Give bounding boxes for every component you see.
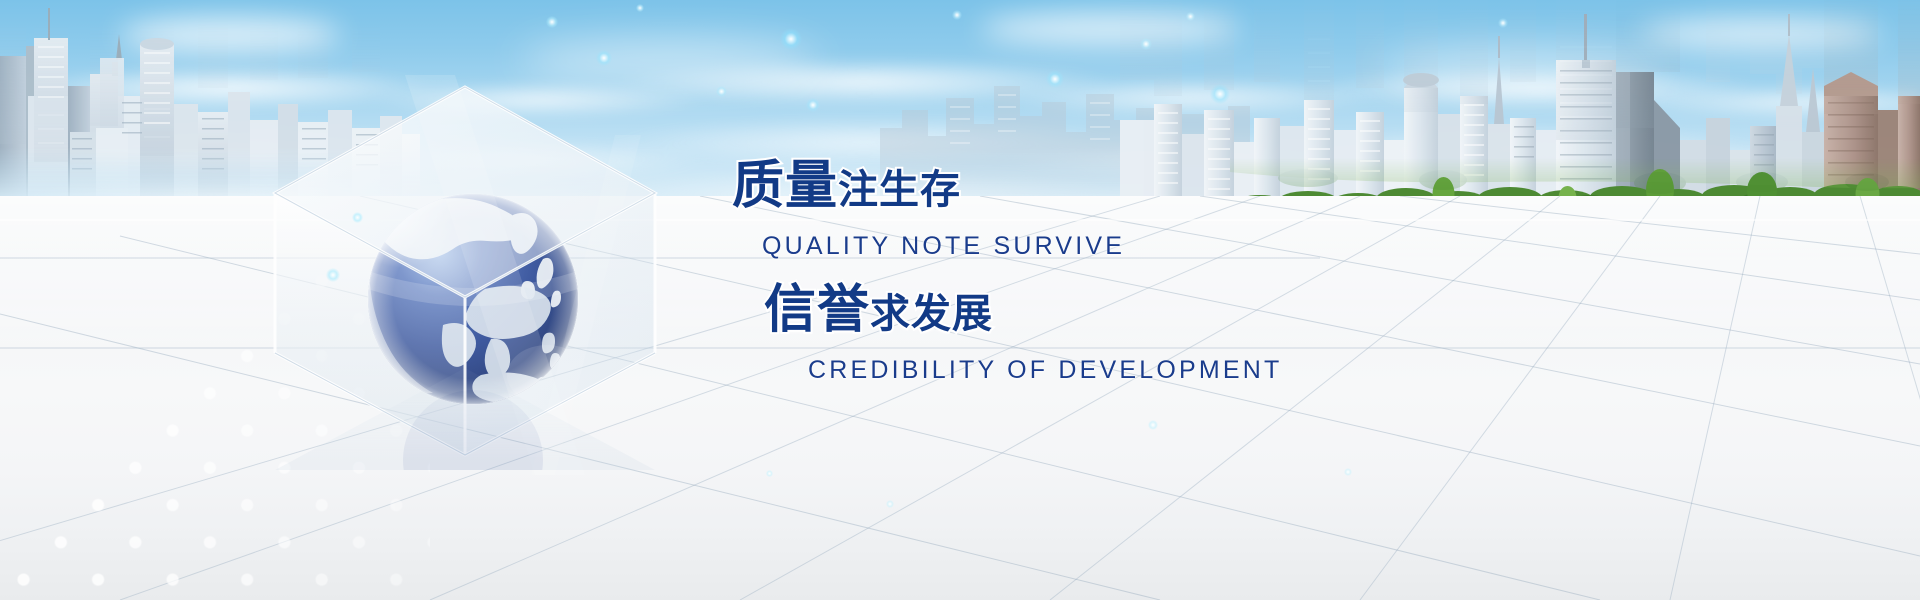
- slogan-quality-secondary: 注生存: [838, 167, 961, 213]
- slogan-credibility-primary: 信誉: [764, 280, 870, 340]
- crystal-reflection: [255, 340, 675, 470]
- slogan-credibility-secondary: 求发展: [870, 291, 993, 337]
- slogan-credibility-headline: 信誉求发展: [764, 284, 993, 336]
- slogan-quality-subline: QUALITY NOTE SURVIVE: [762, 232, 1125, 261]
- slogan-quality-primary: 质量: [732, 156, 838, 216]
- greenery-reflection: [1230, 158, 1920, 200]
- promotional-banner: 质量注生存 QUALITY NOTE SURVIVE 信誉求发展 CREDIBI…: [0, 0, 1920, 600]
- slogan-quality-headline: 质量注生存: [732, 160, 961, 212]
- slogan-credibility-subline: CREDIBILITY OF DEVELOPMENT: [808, 356, 1282, 385]
